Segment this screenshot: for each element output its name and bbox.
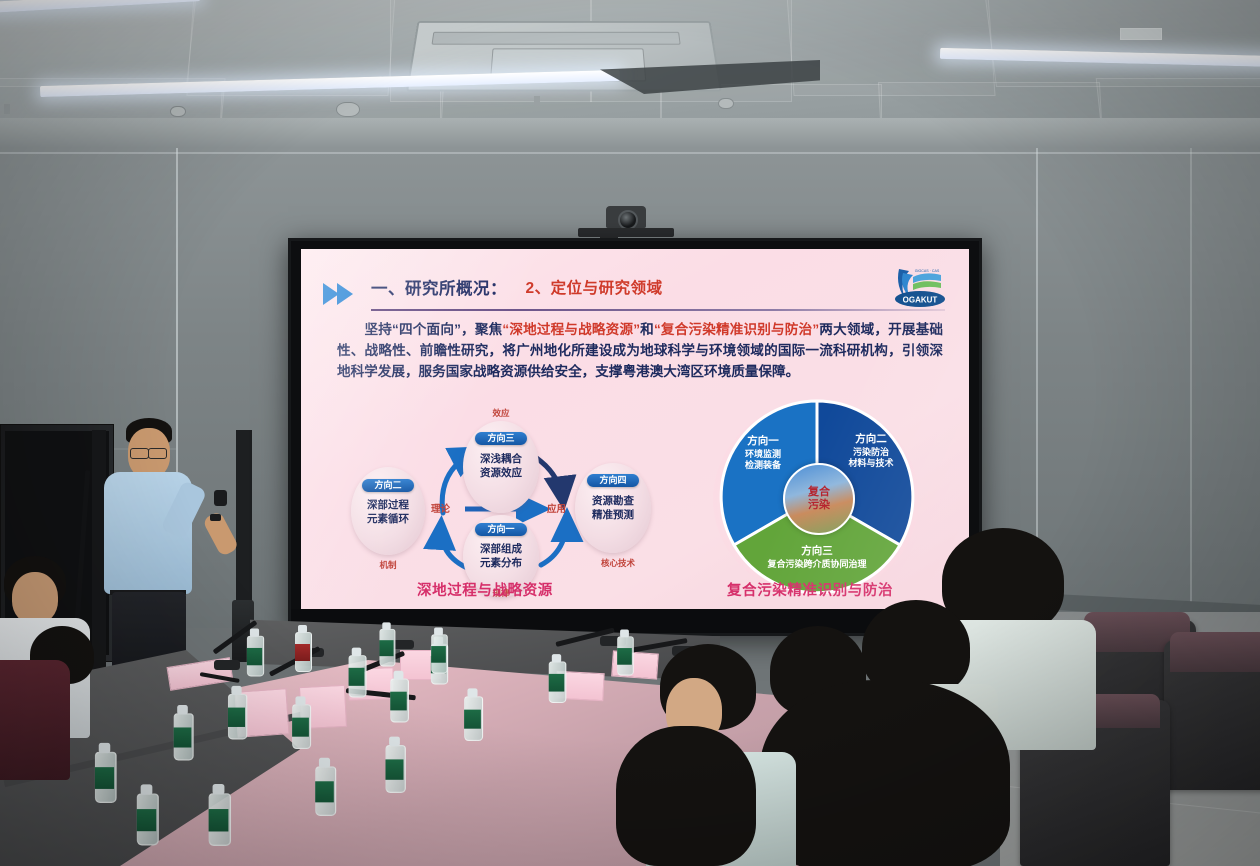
water-bottle <box>246 628 263 675</box>
water-bottle <box>430 626 447 671</box>
slide-surface: 一、研究所概况： 2、定位与研究领域 OGAKUT G <box>301 249 969 609</box>
water-bottle <box>384 735 404 790</box>
node-sublabel: 机制 <box>365 559 411 571</box>
node-sublabel: 核心技术 <box>590 557 646 569</box>
arrow-label-right: 应用 <box>547 501 566 515</box>
water-bottle <box>548 653 566 701</box>
water-bottle <box>227 685 246 737</box>
room: 一、研究所概况： 2、定位与研究领域 OGAKUT G <box>0 0 1260 866</box>
donut-center: 复合 污染 <box>783 463 855 535</box>
svg-text:GIGCAS · CAS: GIGCAS · CAS <box>915 269 940 273</box>
body-text-run: 坚持“四个面向”，聚焦 <box>337 322 502 337</box>
water-bottle <box>379 621 395 664</box>
body-highlight: “深地过程与战略资源” <box>502 322 640 337</box>
slide-title: 一、研究所概况： 2、定位与研究领域 <box>371 275 873 299</box>
left-diagram-caption: 深地过程与战略资源 <box>417 579 553 600</box>
water-bottle <box>172 704 192 758</box>
sprinkler-icon <box>4 104 10 114</box>
office-chair <box>1164 640 1260 790</box>
water-bottle <box>314 756 335 813</box>
node-text: 深部过程 元素循环 <box>351 499 425 527</box>
sprinkler-icon <box>534 96 540 106</box>
water-bottle <box>135 783 157 843</box>
cycle-node: 方向二 深部过程 元素循环 <box>351 467 425 555</box>
node-pill: 方向二 <box>362 479 414 492</box>
chevron-right-icon <box>323 281 367 307</box>
node-text: 深部组成 元素分布 <box>463 543 539 571</box>
slide-title-sub: 2、定位与研究领域 <box>525 276 662 298</box>
node-sublabel: 效应 <box>478 407 524 419</box>
water-bottle <box>291 695 310 747</box>
right-donut-diagram: 方向一 环境监测 检测装备 方向二 污染防治 材料与技术 方向三 复合污染跨介质… <box>707 397 927 609</box>
donut-segment-label: 方向一 环境监测 检测装备 <box>721 435 805 472</box>
water-bottle <box>207 783 229 844</box>
donut-segment-label: 方向三 复合污染跨介质协同治理 <box>741 545 893 570</box>
presenter <box>96 418 256 688</box>
glasses-icon <box>148 448 167 459</box>
water-bottle <box>616 628 633 673</box>
donut-center-text: 复合 污染 <box>785 486 853 512</box>
title-divider <box>371 309 945 311</box>
smoke-detector-icon <box>336 102 360 117</box>
smoke-detector-icon <box>170 106 186 117</box>
node-pill: 方向四 <box>587 474 639 487</box>
presenter-clicker <box>214 490 227 506</box>
camera-lens-icon <box>618 210 638 230</box>
water-bottle <box>389 670 408 721</box>
body-text-run: 和 <box>640 322 654 337</box>
node-text: 深浅耦合 资源效应 <box>463 453 539 481</box>
left-cycle-diagram: 方向二 深部过程 元素循环 机制 方向三 深浅耦合 <box>345 405 665 605</box>
body-highlight: “复合污染精准识别与防治” <box>654 322 819 337</box>
right-diagram-caption: 复合污染精准识别与防治 <box>727 579 893 600</box>
institute-logo: OGAKUT GIGCAS · CAS <box>891 263 949 309</box>
donut-segment-label: 方向二 污染防治 材料与技术 <box>827 433 915 470</box>
slide-body-text: 坚持“四个面向”，聚焦“深地过程与战略资源”和“复合污染精准识别与防治”两大领域… <box>337 319 943 382</box>
water-bottle <box>463 687 482 739</box>
camera-bar <box>578 228 674 237</box>
node-pill: 方向三 <box>475 432 527 445</box>
water-bottle <box>294 624 311 670</box>
node-pill: 方向一 <box>475 523 527 536</box>
microphone-base <box>214 660 240 670</box>
smoke-detector-icon <box>718 98 734 109</box>
projection-screen[interactable]: 一、研究所概况： 2、定位与研究领域 OGAKUT G <box>288 238 982 636</box>
slide-title-main: 一、研究所概况： <box>371 275 507 299</box>
glasses-icon <box>130 448 149 459</box>
water-bottle <box>347 647 365 696</box>
arrow-label-left: 理论 <box>431 501 450 515</box>
cycle-node: 方向四 资源勘查 精准预测 <box>575 463 651 553</box>
logo-text: OGAKUT <box>903 296 938 305</box>
meeting-room-photo: 一、研究所概况： 2、定位与研究领域 OGAKUT G <box>0 0 1260 866</box>
node-text: 资源勘查 精准预测 <box>575 495 651 523</box>
wristwatch <box>210 514 221 521</box>
cycle-node: 方向三 深浅耦合 资源效应 <box>463 421 539 513</box>
